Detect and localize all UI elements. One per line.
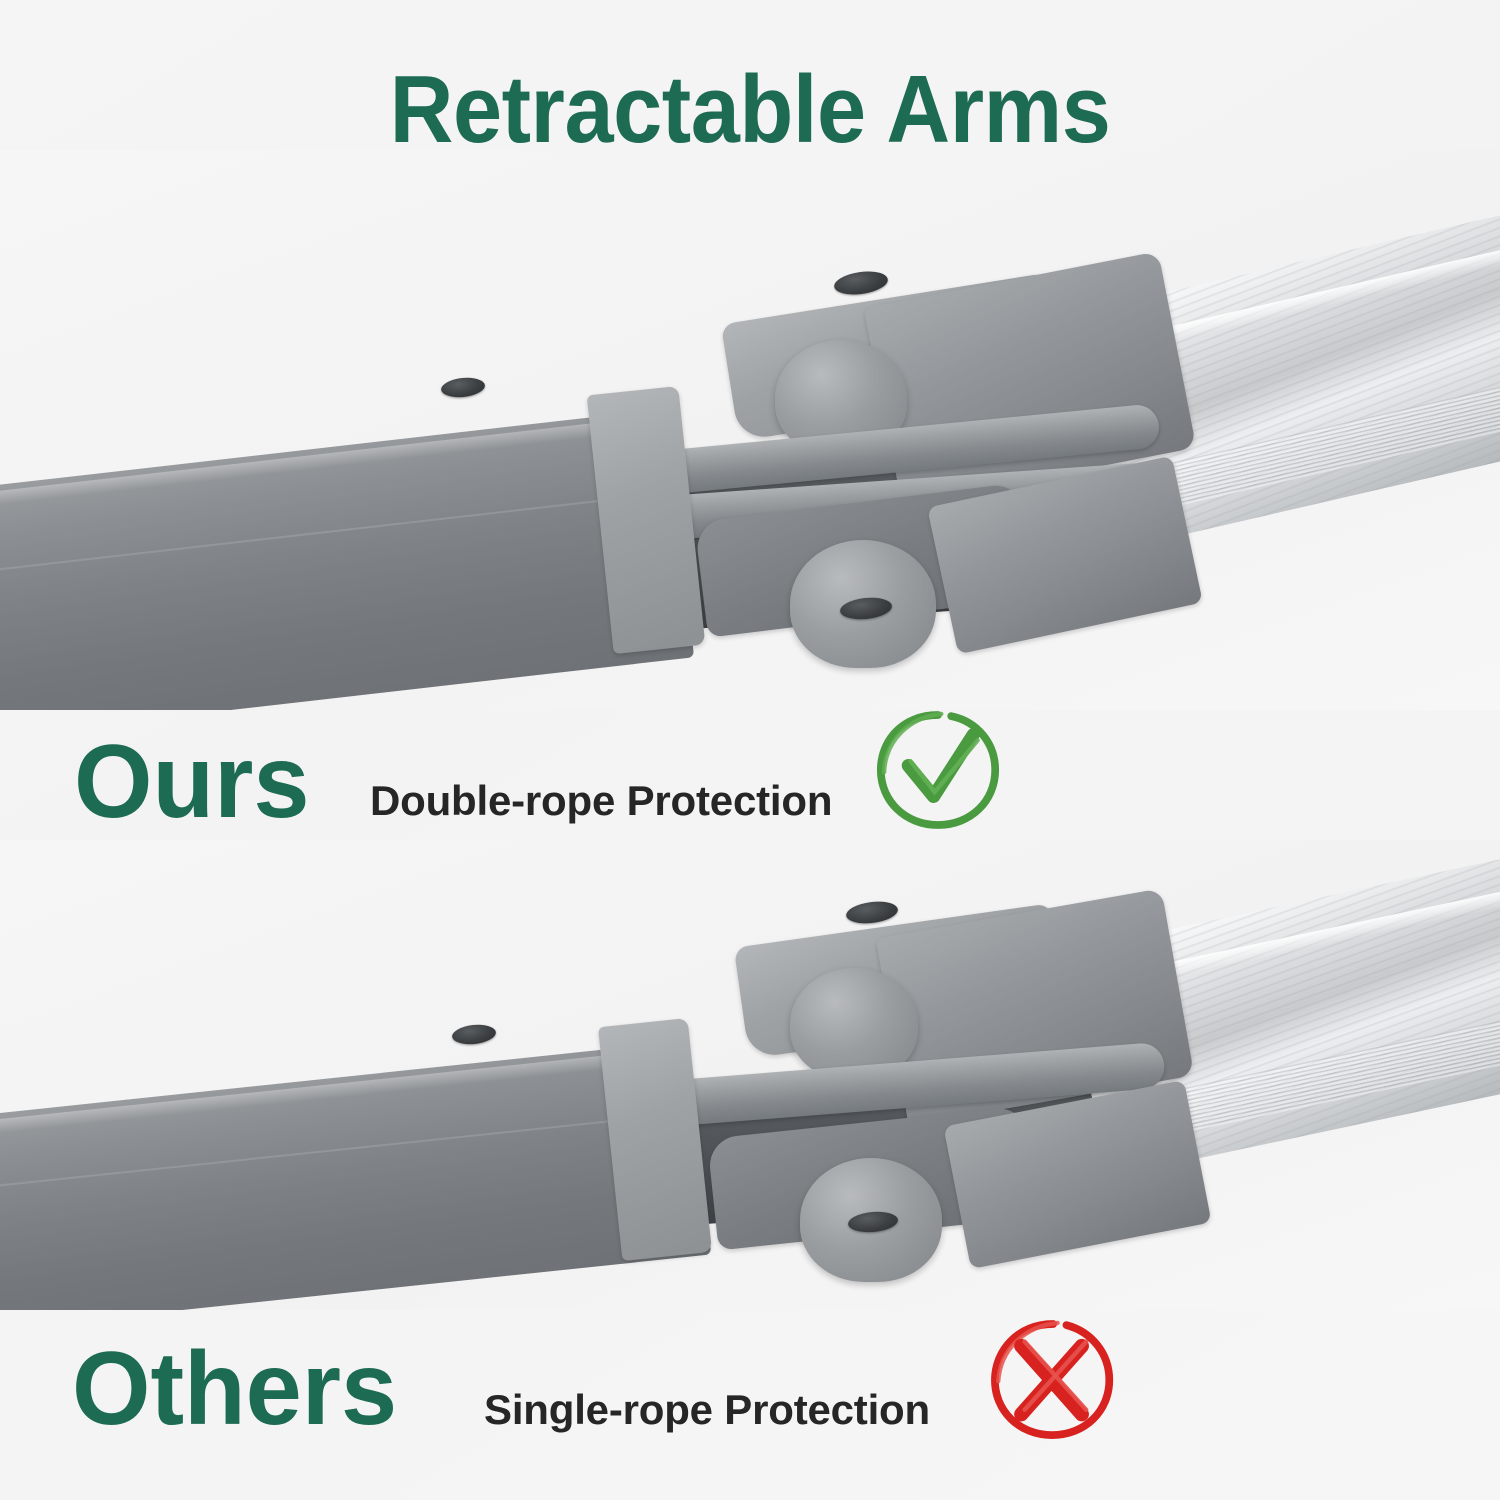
arm-left-bar <box>0 409 694 710</box>
hinge-upper-screw-icon <box>845 899 899 926</box>
check-circle-icon <box>872 704 1004 836</box>
hinge-upper-screw-icon <box>833 268 890 297</box>
brand-label-ours: Ours <box>74 730 309 834</box>
cross-circle-icon <box>985 1313 1117 1445</box>
product-comparison-image: Retractable Arms <box>0 0 1500 1500</box>
photo-panel-others <box>0 840 1500 1310</box>
caption-ours: Double-rope Protection <box>370 780 832 822</box>
arm-left-screw-icon <box>451 1023 497 1046</box>
page-title: Retractable Arms <box>60 62 1440 158</box>
product-photo-others <box>0 840 1500 1310</box>
label-row-ours: Ours Double-rope Protection <box>0 722 1500 842</box>
product-photo-ours <box>0 150 1500 710</box>
photo-panel-ours <box>0 150 1500 710</box>
brand-label-others: Others <box>72 1337 397 1441</box>
caption-others: Single-rope Protection <box>484 1389 930 1431</box>
arm-left-screw-icon <box>440 376 486 399</box>
label-row-others: Others Single-rope Protection <box>0 1325 1500 1445</box>
